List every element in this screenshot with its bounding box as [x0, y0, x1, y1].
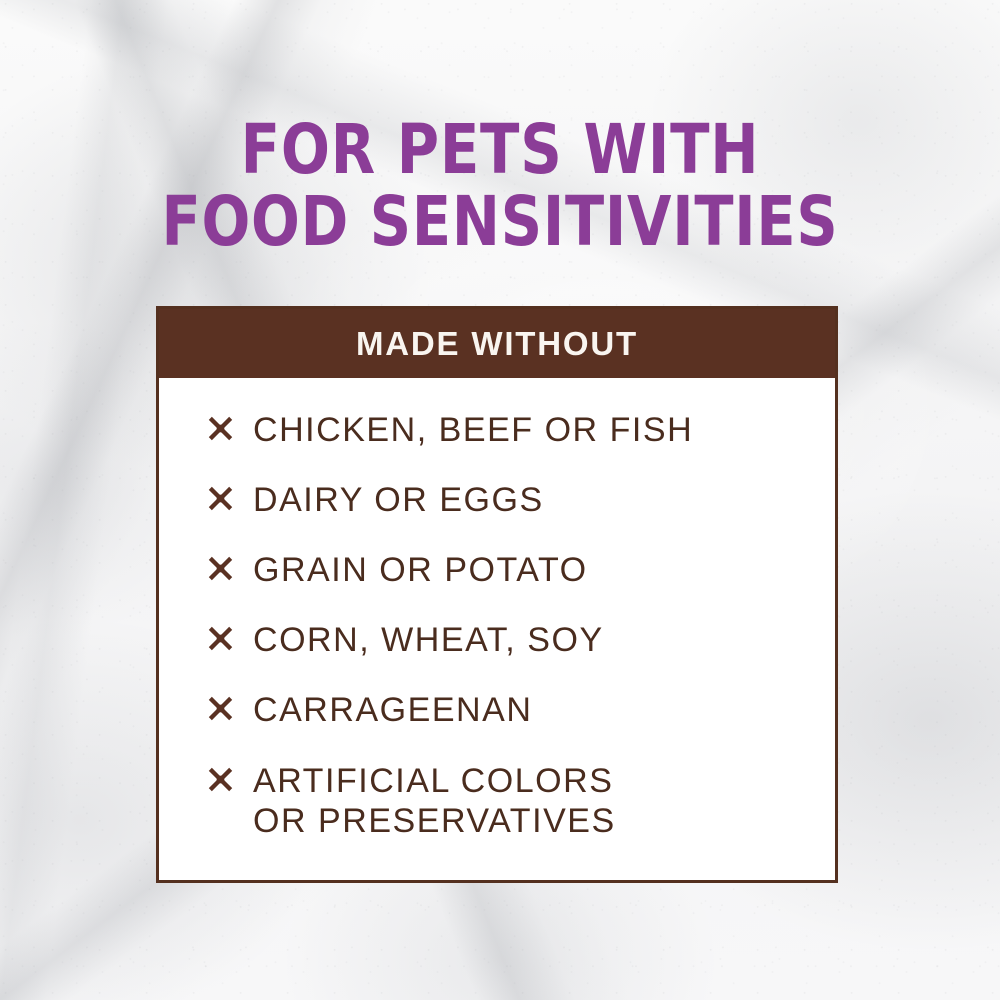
list-item: CHICKEN, BEEF OR FISH — [207, 410, 835, 450]
list-item: CORN, WHEAT, SOY — [207, 620, 835, 660]
x-mark-icon — [207, 695, 234, 722]
x-mark-icon — [207, 766, 234, 793]
list-item-label: CARRAGEENAN — [253, 690, 532, 730]
list-item: DAIRY OR EGGS — [207, 480, 835, 520]
headline-line-2: FOOD SENSITIVITIES — [38, 190, 963, 255]
made-without-card: MADE WITHOUT CHICKEN, BEEF OR FISH — [156, 306, 838, 883]
x-mark-icon — [207, 555, 234, 582]
card-header-title: MADE WITHOUT — [356, 325, 638, 363]
product-claim-poster: FOR PETS WITH FOOD SENSITIVITIES MADE WI… — [0, 0, 1000, 1000]
page-title: FOR PETS WITH FOOD SENSITIVITIES — [0, 118, 1000, 255]
x-mark-icon — [207, 415, 234, 442]
list-item-label: GRAIN OR POTATO — [253, 550, 588, 590]
list-item: CARRAGEENAN — [207, 690, 835, 730]
exclusion-list: CHICKEN, BEEF OR FISH DAIRY OR EGGS — [207, 410, 835, 841]
headline-line-1: FOR PETS WITH — [35, 118, 965, 183]
list-item-label: CORN, WHEAT, SOY — [253, 620, 604, 660]
list-item: ARTIFICIAL COLORS OR PRESERVATIVES — [207, 761, 835, 841]
x-mark-icon — [207, 625, 234, 652]
card-body: CHICKEN, BEEF OR FISH DAIRY OR EGGS — [159, 378, 835, 880]
x-mark-icon — [207, 485, 234, 512]
list-item: GRAIN OR POTATO — [207, 550, 835, 590]
card-header-bar: MADE WITHOUT — [159, 309, 835, 378]
list-item-label: ARTIFICIAL COLORS OR PRESERVATIVES — [253, 761, 616, 841]
list-item-label: DAIRY OR EGGS — [253, 480, 544, 520]
list-item-label: CHICKEN, BEEF OR FISH — [253, 410, 693, 450]
